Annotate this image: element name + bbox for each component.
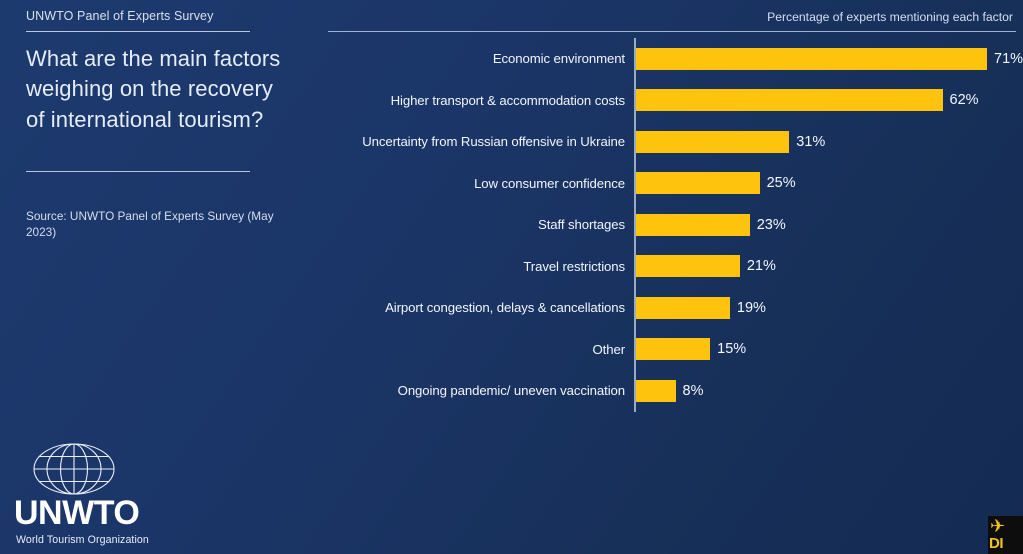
bar-track: 15%: [636, 329, 746, 371]
logo-tagline: World Tourism Organization: [16, 534, 196, 546]
unwto-logo: UNWTO World Tourism Organization: [14, 442, 194, 546]
globe-icon: [32, 442, 116, 496]
bar-track: 8%: [636, 370, 704, 412]
bar-value-label: 15%: [717, 341, 746, 357]
bar-category-label: Higher transport & accommodation costs: [320, 93, 625, 108]
bar-value-label: 8%: [683, 383, 704, 399]
bar-row[interactable]: Other15%: [320, 329, 1023, 371]
bar-category-label: Economic environment: [320, 51, 625, 66]
bar-fill[interactable]: [636, 172, 760, 194]
corner-logo-text: DI: [989, 536, 1003, 551]
bar-row[interactable]: Staff shortages23%: [320, 204, 1023, 246]
source-note: Source: UNWTO Panel of Experts Survey (M…: [26, 208, 276, 241]
bar-category-label: Airport congestion, delays & cancellatio…: [320, 300, 625, 315]
bar-track: 62%: [636, 80, 979, 122]
bar-track: 21%: [636, 246, 776, 288]
bar-value-label: 71%: [994, 51, 1023, 67]
bar-value-label: 25%: [767, 175, 796, 191]
bar-fill[interactable]: [636, 214, 750, 236]
logo-wordmark: UNWTO: [14, 496, 182, 530]
bar-value-label: 21%: [747, 258, 776, 274]
bar-value-label: 23%: [757, 217, 786, 233]
bar-category-label: Staff shortages: [320, 217, 625, 232]
bar-fill[interactable]: [636, 380, 676, 402]
bar-track: 25%: [636, 163, 796, 205]
bar-fill[interactable]: [636, 338, 710, 360]
bar-track: 71%: [636, 38, 1023, 80]
plane-icon: ✈: [990, 517, 1005, 535]
bar-row[interactable]: Higher transport & accommodation costs62…: [320, 80, 1023, 122]
bar-value-label: 19%: [737, 300, 766, 316]
left-panel: UNWTO Panel of Experts Survey What are t…: [0, 0, 320, 554]
bar-category-label: Ongoing pandemic/ uneven vaccination: [320, 383, 625, 398]
bar-row[interactable]: Uncertainty from Russian offensive in Uk…: [320, 121, 1023, 163]
bar-value-label: 31%: [796, 134, 825, 150]
bar-category-label: Uncertainty from Russian offensive in Uk…: [320, 134, 625, 149]
bar-fill[interactable]: [636, 255, 740, 277]
bar-fill[interactable]: [636, 89, 943, 111]
chart-panel: Percentage of experts mentioning each fa…: [320, 0, 1023, 554]
bar-row[interactable]: Travel restrictions21%: [320, 246, 1023, 288]
chart-caption: Percentage of experts mentioning each fa…: [767, 10, 1013, 24]
panel-eyebrow: UNWTO Panel of Experts Survey: [26, 9, 286, 23]
bar-fill[interactable]: [636, 48, 987, 70]
bar-fill[interactable]: [636, 131, 789, 153]
divider-top: [26, 31, 250, 32]
bar-track: 23%: [636, 204, 786, 246]
chart-divider: [328, 31, 1016, 32]
bar-fill[interactable]: [636, 297, 730, 319]
slide-canvas: UNWTO Panel of Experts Survey What are t…: [0, 0, 1023, 554]
corner-logo-badge: ✈ DI: [988, 516, 1023, 554]
bar-row[interactable]: Low consumer confidence25%: [320, 163, 1023, 205]
bar-track: 19%: [636, 287, 766, 329]
bar-category-label: Other: [320, 342, 625, 357]
bar-row[interactable]: Airport congestion, delays & cancellatio…: [320, 287, 1023, 329]
bar-category-label: Low consumer confidence: [320, 176, 625, 191]
bar-row[interactable]: Ongoing pandemic/ uneven vaccination8%: [320, 370, 1023, 412]
page-title: What are the main factors weighing on th…: [26, 44, 284, 135]
divider-bottom: [26, 171, 250, 172]
bar-chart: Economic environment71%Higher transport …: [320, 38, 1023, 412]
bar-category-label: Travel restrictions: [320, 259, 625, 274]
bar-track: 31%: [636, 121, 825, 163]
bar-value-label: 62%: [950, 92, 979, 108]
bar-row[interactable]: Economic environment71%: [320, 38, 1023, 80]
